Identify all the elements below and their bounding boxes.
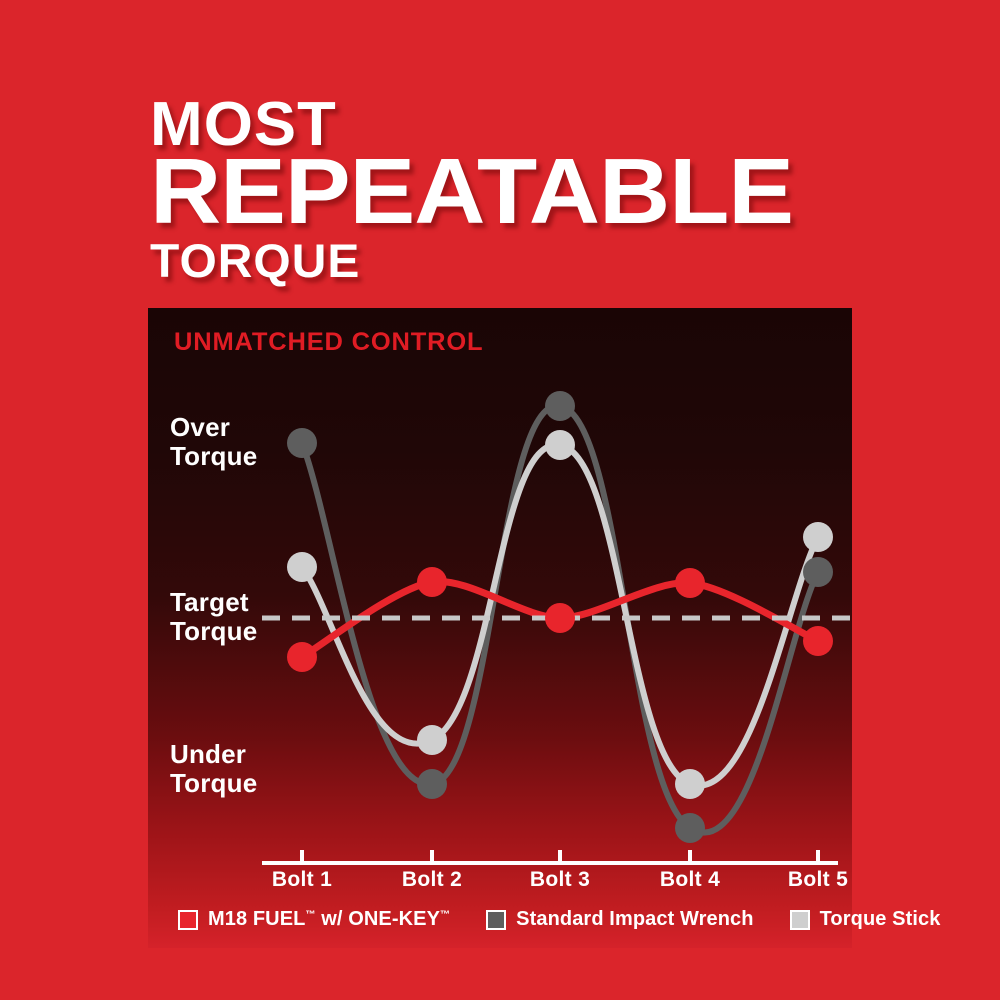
data-point bbox=[803, 522, 833, 552]
data-point bbox=[675, 568, 705, 598]
data-point bbox=[545, 391, 575, 421]
legend-label: Torque Stick bbox=[820, 908, 941, 931]
legend-swatch-icon bbox=[790, 910, 810, 930]
x-axis-tick-label: Bolt 3 bbox=[530, 868, 590, 892]
data-point bbox=[287, 552, 317, 582]
x-axis bbox=[262, 850, 838, 863]
x-axis-tick-label: Bolt 5 bbox=[788, 868, 848, 892]
poster-root: MOST REPEATABLE TORQUE UNMATCHED CONTROL… bbox=[0, 0, 1000, 1000]
data-point bbox=[417, 769, 447, 799]
headline-line-2: REPEATABLE bbox=[150, 149, 793, 235]
data-point bbox=[287, 428, 317, 458]
chart-panel: UNMATCHED CONTROL Over Torque Target Tor… bbox=[148, 308, 852, 948]
x-axis-tick-label: Bolt 4 bbox=[660, 868, 720, 892]
data-point bbox=[803, 626, 833, 656]
plot-area bbox=[148, 308, 852, 948]
legend-label: Standard Impact Wrench bbox=[516, 908, 753, 931]
data-point bbox=[675, 769, 705, 799]
x-axis-tick-label: Bolt 2 bbox=[402, 868, 462, 892]
data-point bbox=[417, 725, 447, 755]
headline-block: MOST REPEATABLE TORQUE bbox=[150, 96, 757, 282]
legend-item-torque-stick[interactable]: Torque Stick bbox=[790, 908, 941, 931]
legend-item-m18-fuel-onekey[interactable]: M18 FUEL™ w/ ONE-KEY™ bbox=[178, 908, 450, 931]
x-axis-tick-label: Bolt 1 bbox=[272, 868, 332, 892]
legend-label: M18 FUEL™ w/ ONE-KEY™ bbox=[208, 908, 450, 931]
legend-swatch-icon bbox=[178, 910, 198, 930]
legend-swatch-icon bbox=[486, 910, 506, 930]
data-point bbox=[803, 557, 833, 587]
data-point bbox=[287, 642, 317, 672]
data-point bbox=[545, 603, 575, 633]
data-point bbox=[675, 813, 705, 843]
x-axis-tick-labels: Bolt 1Bolt 2Bolt 3Bolt 4Bolt 5 bbox=[148, 868, 852, 898]
data-point bbox=[545, 430, 575, 460]
chart-legend: M18 FUEL™ w/ ONE-KEY™Standard Impact Wre… bbox=[178, 908, 976, 931]
legend-item-standard-impact-wrench[interactable]: Standard Impact Wrench bbox=[486, 908, 753, 931]
headline-line-3: TORQUE bbox=[150, 239, 769, 282]
data-point bbox=[417, 567, 447, 597]
